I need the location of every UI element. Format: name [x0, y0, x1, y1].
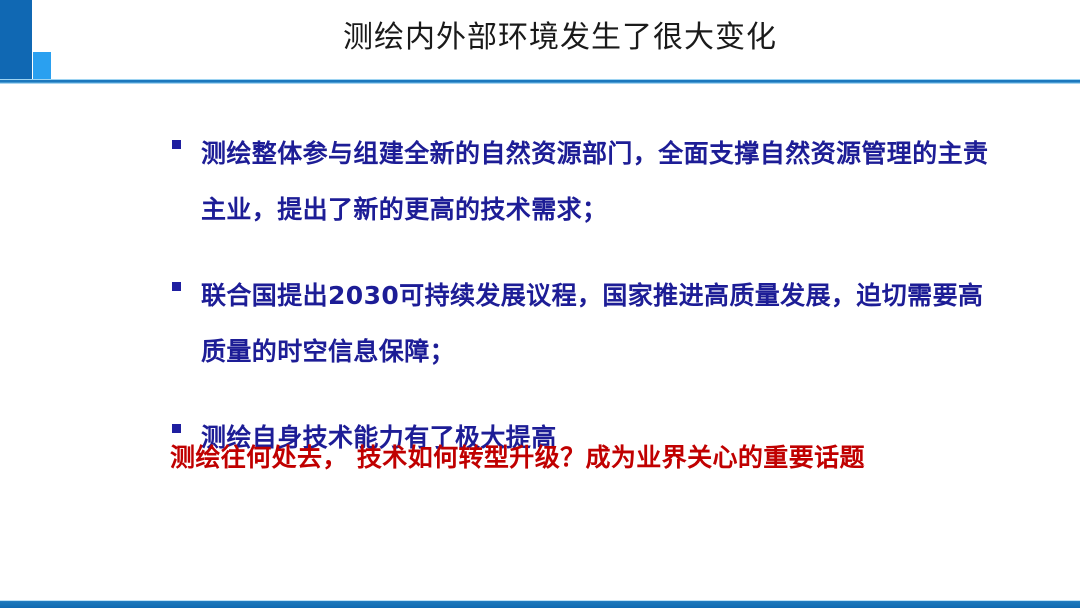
bullet-item-text: 测绘整体参与组建全新的自然资源部门，全面支撑自然资源管理的主责主业，提出了新的更…: [201, 126, 992, 238]
decorative-bar-light-blue: [33, 52, 51, 80]
decorative-bar-dark-blue: [0, 0, 32, 80]
square-bullet-icon: [172, 282, 181, 291]
square-bullet-icon: [172, 424, 181, 433]
bullet-list: 测绘整体参与组建全新的自然资源部门，全面支撑自然资源管理的主责主业，提出了新的更…: [172, 126, 992, 466]
bullet-item: 联合国提出2030可持续发展议程，国家推进高质量发展，迫切需要高质量的时空信息保…: [172, 268, 992, 380]
slide-title: 测绘内外部环境发生了很大变化: [60, 16, 1060, 60]
footer-divider-rule: [0, 600, 1080, 608]
emphasis-statement: 测绘往何处去， 技术如何转型升级？成为业界关心的重要话题: [170, 440, 1030, 476]
bullet-item: 测绘整体参与组建全新的自然资源部门，全面支撑自然资源管理的主责主业，提出了新的更…: [172, 126, 992, 238]
header-divider-rule: [0, 79, 1080, 84]
bullet-item-text: 联合国提出2030可持续发展议程，国家推进高质量发展，迫切需要高质量的时空信息保…: [201, 268, 992, 380]
square-bullet-icon: [172, 140, 181, 149]
slide-canvas: 测绘内外部环境发生了很大变化 测绘整体参与组建全新的自然资源部门，全面支撑自然资…: [0, 0, 1080, 608]
